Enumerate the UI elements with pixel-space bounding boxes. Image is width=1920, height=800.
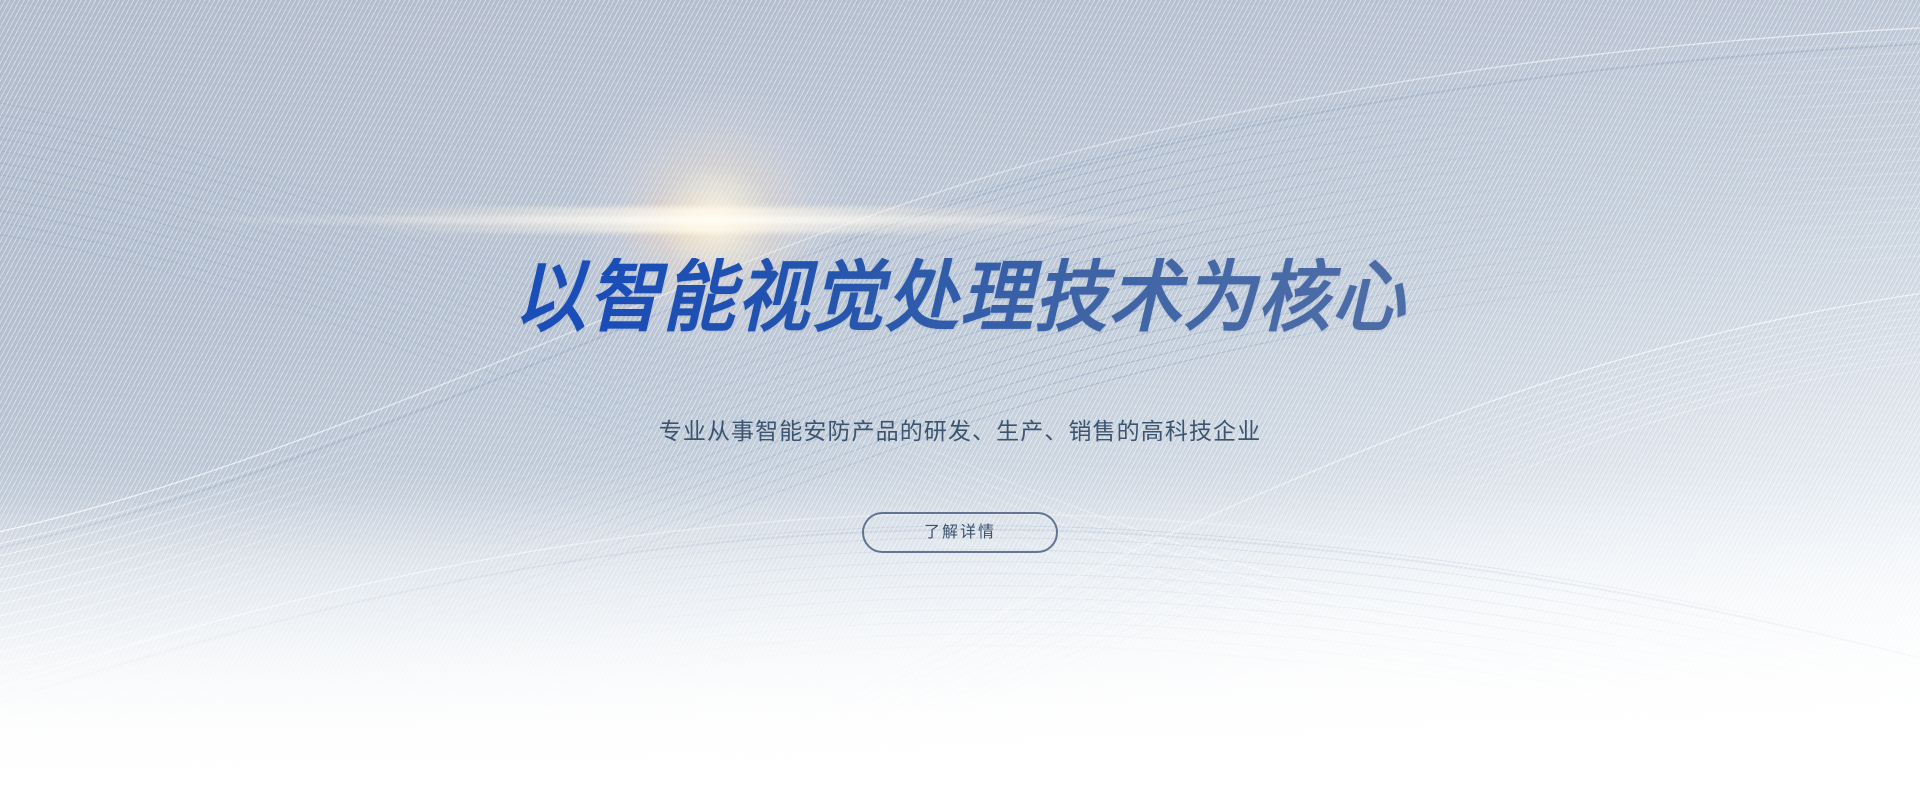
hero-subtitle: 专业从事智能安防产品的研发、生产、销售的高科技企业 (0, 415, 1920, 447)
hero-banner: 以智能视觉处理技术为核心 专业从事智能安防产品的研发、生产、销售的高科技企业 了… (0, 0, 1920, 800)
learn-more-button[interactable]: 了解详情 (862, 512, 1058, 553)
hero-content: 以智能视觉处理技术为核心 专业从事智能安防产品的研发、生产、销售的高科技企业 了… (0, 0, 1920, 800)
hero-headline: 以智能视觉处理技术为核心 (67, 258, 1853, 336)
hero-cta-container: 了解详情 (0, 512, 1920, 553)
